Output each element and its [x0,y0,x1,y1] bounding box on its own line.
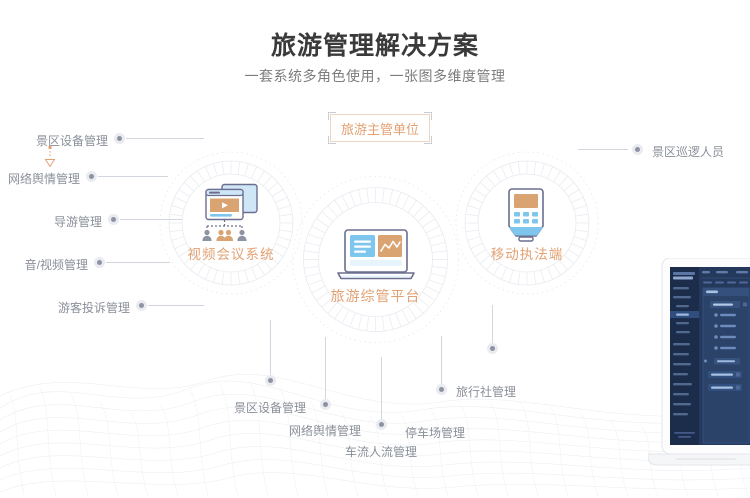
bottom-item-dot-0[interactable] [265,375,276,386]
bottom-item-line-1 [325,337,326,399]
bottom-item-dot-3[interactable] [436,384,447,395]
video-conference-icon [195,182,268,244]
bottom-item-label-3: 停车场管理 [405,424,465,441]
node-label-right: 移动执法端 [452,243,602,263]
handheld-terminal-icon [503,186,549,244]
left-item-label-4: 游客投诉管理 [22,299,130,316]
right-item-label-0: 景区巡逻人员 [652,143,724,160]
bottom-item-dot-1[interactable] [320,399,331,410]
badge-corner-br [424,136,432,144]
left-item-dot-3[interactable] [94,257,105,268]
left-item-dot-1[interactable] [86,171,97,182]
left-item-line-2 [120,219,182,220]
left-item-label-2: 导游管理 [0,213,102,230]
left-item-line-4 [148,305,204,306]
bottom-item-line-0 [270,320,271,375]
left-item-dot-4[interactable] [136,300,147,311]
authority-badge[interactable]: 旅游主管单位 [330,114,430,142]
badge-corner-tr [424,112,432,120]
left-item-label-3: 音/视频管理 [0,256,88,273]
page-subtitle: 一套系统多角色使用，一张图多维度管理 [0,66,750,86]
left-item-dot-0[interactable] [114,133,125,144]
bottom-item-dot-2[interactable] [376,419,387,430]
badge-corner-tl [328,112,336,120]
node-label-center: 旅游综管平台 [288,286,463,306]
left-item-line-0 [126,138,204,139]
bottom-item-label-2: 车流人流管理 [345,443,417,460]
bottom-item-label-0: 景区设备管理 [234,399,306,416]
authority-badge-group: 旅游主管单位 [330,114,430,142]
right-item-line-0 [578,149,628,150]
authority-badge-label: 旅游主管单位 [341,119,419,138]
laptop-dashboard-icon [334,228,418,284]
bottom-item-label-1: 网络舆情管理 [289,422,361,439]
left-item-line-1 [98,176,168,177]
right-item-dot-0[interactable] [632,144,643,155]
bottom-item-line-4 [492,305,493,343]
left-item-line-3 [106,262,170,263]
node-label-left: 视频会议系统 [156,243,306,263]
poster-canvas: 旅游管理解决方案 一套系统多角色使用，一张图多维度管理 旅游主管单位 [0,0,750,498]
down-arrow-icon [42,146,58,168]
left-item-dot-2[interactable] [108,214,119,225]
left-item-label-1: 网络舆情管理 [0,170,80,187]
bottom-item-line-2 [381,357,382,419]
page-title: 旅游管理解决方案 [0,26,750,62]
dashboard-laptop-mockup [648,258,750,473]
bottom-item-line-3 [441,336,442,384]
left-item-label-0: 景区设备管理 [0,132,108,149]
background-mesh [0,348,750,498]
badge-corner-bl [328,136,336,144]
bottom-item-label-4: 旅行社管理 [456,383,516,400]
bottom-item-dot-4[interactable] [487,343,498,354]
